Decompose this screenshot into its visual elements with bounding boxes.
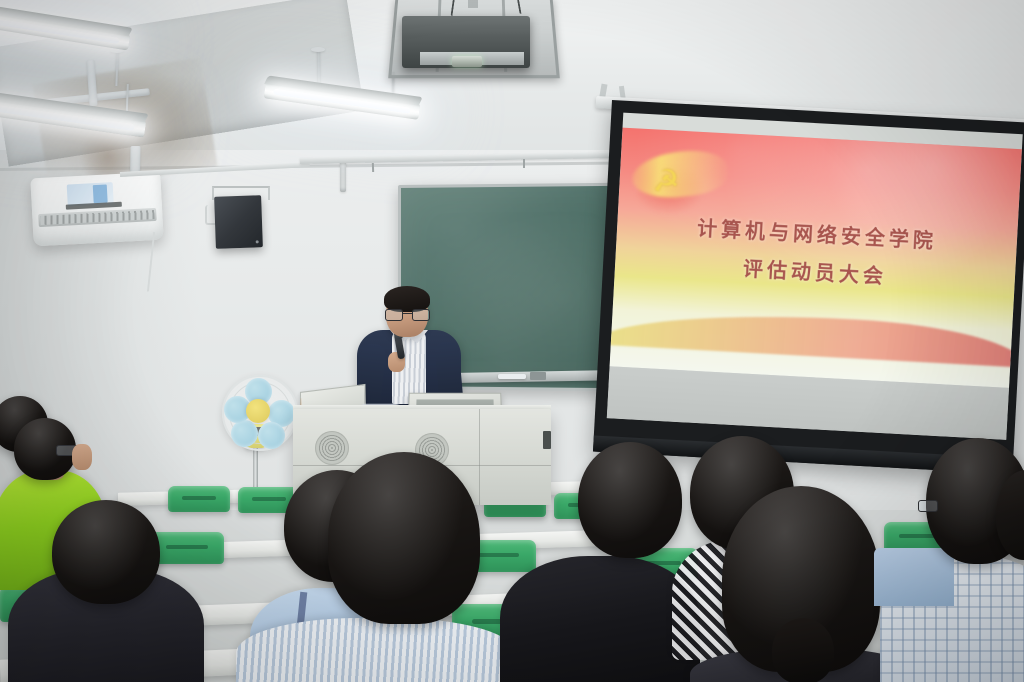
body: [236, 618, 516, 682]
fan-blade: [231, 420, 258, 447]
chair[interactable]: [168, 486, 230, 512]
projector-lens: [452, 56, 482, 67]
podium-hinge: [543, 431, 551, 449]
rail-hook: [523, 159, 525, 168]
chair-handle-slot: [477, 553, 520, 557]
head: [328, 452, 480, 624]
wall-speaker: [214, 195, 263, 249]
classroom-photo: ☭ 计算机与网络安全学院 评估动员大会: [0, 0, 1024, 682]
hand: [72, 444, 92, 470]
glasses-lens-right: [412, 309, 430, 321]
head: [52, 500, 160, 604]
hair-sheen: [578, 442, 682, 558]
head: [578, 442, 682, 558]
screen-surface: ☭ 计算机与网络安全学院 评估动员大会: [607, 113, 1023, 440]
presentation-slide: ☭ 计算机与网络安全学院 评估动员大会: [610, 128, 1022, 388]
body: [500, 556, 700, 682]
podium-seam: [479, 409, 480, 505]
air-conditioner: [30, 172, 163, 247]
podium-speaker-grille-left: [315, 431, 349, 465]
speaker-led: [256, 240, 259, 243]
fan-blade: [258, 422, 285, 449]
shirt-shoulder: [874, 548, 954, 606]
chalk-stick: [498, 374, 526, 379]
glasses-lens-left: [385, 309, 403, 321]
chair-handle-slot: [252, 497, 287, 500]
light-rod-cap-3: [311, 47, 325, 52]
emblem-banner-swoosh: [630, 147, 730, 201]
fan-hub: [246, 399, 270, 423]
ponytail: [772, 618, 834, 682]
hammer-and-sickle-icon: ☭: [652, 167, 679, 197]
hair-sheen: [52, 500, 160, 604]
rail-hook: [372, 163, 374, 172]
board-eraser: [530, 372, 546, 380]
chair-handle-slot: [182, 496, 217, 499]
chair[interactable]: [150, 532, 224, 564]
ac-label-badge: [93, 184, 108, 203]
hair-sheen: [328, 452, 480, 624]
eyeglasses-icon: [385, 309, 429, 319]
projection-screen: ☭ 计算机与网络安全学院 评估动员大会: [593, 100, 1024, 474]
glasses-bridge: [402, 313, 412, 314]
eyeglasses-icon: [918, 500, 938, 512]
chair-handle-slot: [166, 545, 207, 549]
